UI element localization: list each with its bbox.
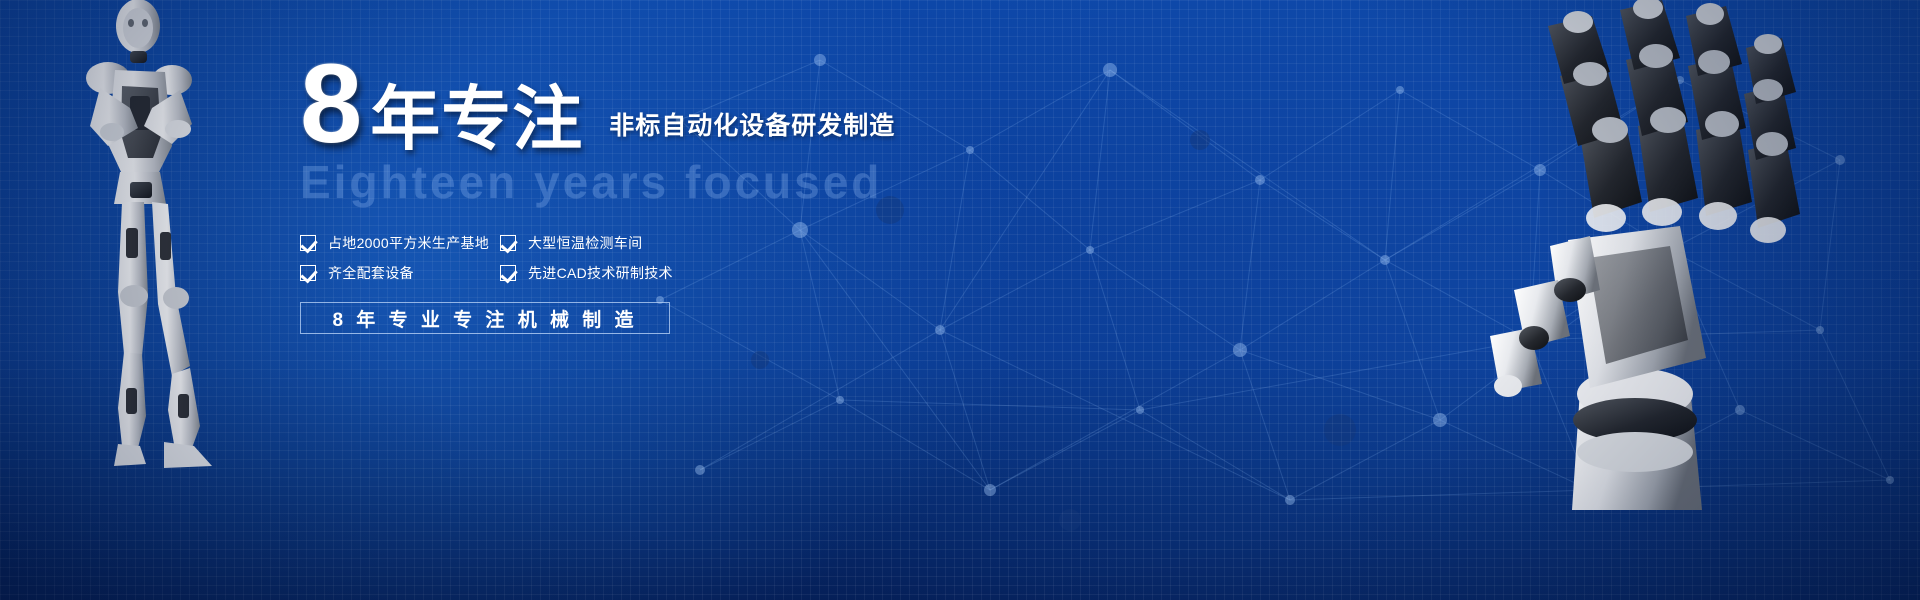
robotic-hand-figure (1430, 0, 1900, 510)
feature-label: 大型恒温检测车间 (528, 233, 642, 253)
feature-list: 占地2000平方米生产基地 大型恒温检测车间 齐全配套设备 先进CAD技术研制技… (300, 228, 700, 288)
headline-subtitle: 非标自动化设备研发制造 (609, 106, 895, 142)
feature-label: 齐全配套设备 (328, 263, 414, 283)
feature-label: 先进CAD技术研制技术 (528, 263, 673, 283)
feature-label: 占地2000平方米生产基地 (328, 233, 489, 253)
headline: 8 年专注 非标自动化设备研发制造 (300, 60, 1020, 152)
slogan-text: 8 年 专 业 专 注 机 械 制 造 (332, 305, 637, 332)
humanoid-robot-figure (60, 0, 290, 496)
english-tagline: Eighteen years focused (300, 158, 1020, 206)
headline-cn-text: 年专注 (370, 86, 583, 153)
list-item: 占地2000平方米生产基地 (300, 228, 500, 258)
slogan-box: 8 年 专 业 专 注 机 械 制 造 (300, 302, 670, 334)
hero-banner: 8 年专注 非标自动化设备研发制造 Eighteen years focused… (0, 0, 1920, 600)
check-icon (500, 265, 516, 281)
list-item: 先进CAD技术研制技术 (500, 258, 700, 288)
check-icon (500, 235, 516, 251)
check-icon (300, 265, 316, 281)
list-item: 齐全配套设备 (300, 258, 500, 288)
banner-content: 8 年专注 非标自动化设备研发制造 Eighteen years focused… (300, 60, 1020, 360)
check-icon (300, 235, 316, 251)
list-item: 大型恒温检测车间 (500, 228, 700, 258)
headline-number: 8 (300, 56, 360, 152)
